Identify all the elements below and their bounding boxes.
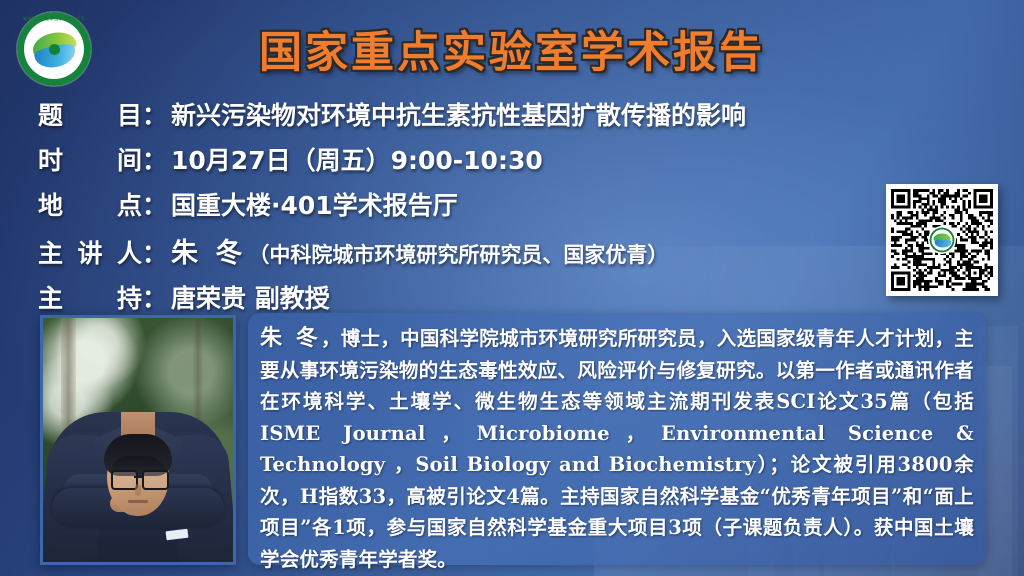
qr-center-logo-icon (930, 228, 955, 253)
info-value-topic: 新兴污染物对环境中抗生素抗性基因扩散传播的影响 (171, 96, 746, 132)
info-row-time: 时间 ： 10月27日（周五）9:00-10:30 (38, 141, 898, 177)
info-colon-speaker: ： (142, 234, 167, 270)
poster-title: 国家重点实验室学术报告 (0, 18, 1024, 80)
info-value-speaker-name: 朱 冬 (171, 231, 246, 270)
info-colon-time: ： (142, 141, 167, 177)
info-colon-location: ： (142, 186, 167, 222)
info-row-topic: 题目 ： 新兴污染物对环境中抗生素抗性基因扩散传播的影响 (38, 96, 898, 132)
speaker-bio-panel: 朱 冬，博士，中国科学院城市环境研究所研究员，入选国家级青年人才计划，主要从事环… (248, 313, 986, 565)
info-value-location: 国重大楼·401学术报告厅 (171, 186, 458, 222)
info-label-topic: 题目 (38, 96, 142, 132)
bio-text: ，博士，中国科学院城市环境研究所研究员，入选国家级青年人才计划，主要从事环境污染… (260, 327, 974, 571)
qr-code[interactable] (886, 184, 998, 296)
info-colon-host: ： (142, 279, 167, 315)
bio-speaker-name: 朱 冬 (260, 325, 321, 351)
info-row-speaker: 主讲人 ： 朱 冬 （中科院城市环境研究所研究员、国家优青） (38, 231, 898, 270)
info-label-speaker: 主讲人 (38, 234, 142, 270)
info-label-host: 主持 (38, 279, 142, 315)
info-value-time: 10月27日（周五）9:00-10:30 (171, 141, 543, 177)
info-row-host: 主持 ： 唐荣贵 副教授 (38, 279, 898, 315)
info-value-host: 唐荣贵 副教授 (171, 279, 330, 315)
info-value-speaker-affiliation: （中科院城市环境研究所研究员、国家优青） (248, 239, 668, 269)
poster-root: 城市环境与健康国家重点实验室 国家重点实验室学术报告 题目 ： 新兴污染物对环境… (0, 0, 1024, 576)
info-row-location: 地点 ： 国重大楼·401学术报告厅 (38, 186, 898, 222)
info-list: 题目 ： 新兴污染物对环境中抗生素抗性基因扩散传播的影响 时间 ： 10月27日… (38, 96, 898, 324)
info-label-time: 时间 (38, 141, 142, 177)
info-label-location: 地点 (38, 186, 142, 222)
speaker-portrait-photo (40, 315, 236, 565)
info-colon-topic: ： (142, 96, 167, 132)
